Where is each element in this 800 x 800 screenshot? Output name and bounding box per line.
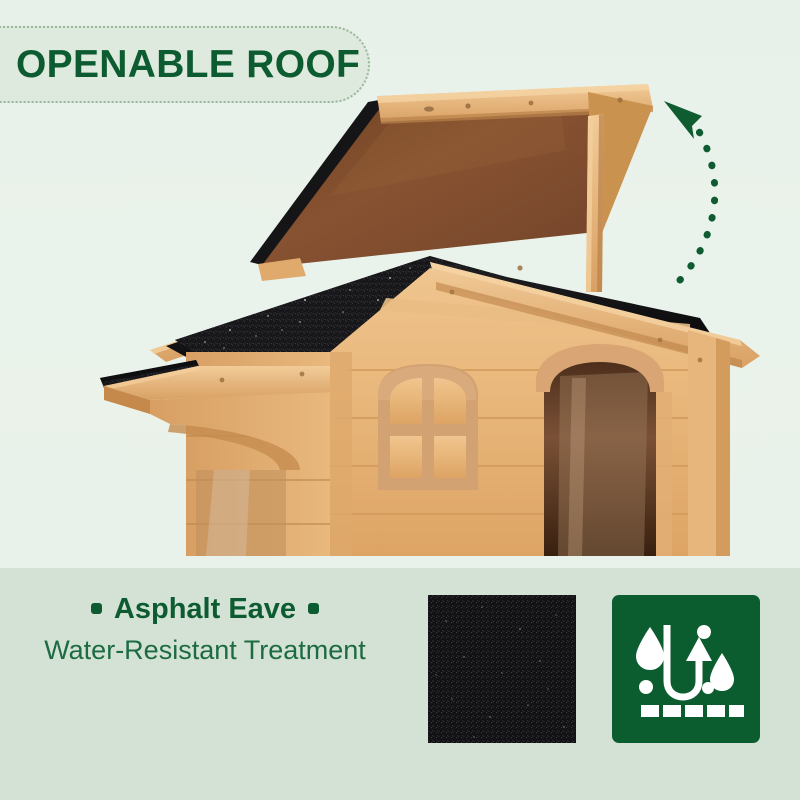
corner-post-right <box>688 330 716 556</box>
water-resistant-icon <box>612 595 760 743</box>
info-subheading: Water-Resistant Treatment <box>0 634 410 666</box>
feature-panel: OPENABLE ROOF Asphalt Eave Water-Resista… <box>0 0 800 800</box>
arrow-head-up <box>686 637 712 661</box>
water-resistant-glyph <box>612 595 760 743</box>
droplet-dot-left <box>639 680 653 694</box>
asphalt-texture-swatch <box>428 595 576 743</box>
bullet-dot-left <box>91 603 102 614</box>
feature-banner: OPENABLE ROOF <box>0 26 370 103</box>
info-text-block: Asphalt Eave Water-Resistant Treatment <box>0 592 410 666</box>
bullet-dot-right <box>308 603 319 614</box>
info-heading: Asphalt Eave <box>0 592 410 627</box>
dashed-surface-line <box>641 705 744 717</box>
swatch-texture <box>428 595 576 743</box>
roof-support-post <box>586 114 604 292</box>
droplet-right <box>710 653 734 691</box>
banner-title: OPENABLE ROOF <box>0 45 360 84</box>
droplet-dot-right <box>702 682 714 694</box>
droplet-large-left <box>636 627 664 670</box>
arched-door-opening <box>536 344 672 556</box>
droplet-dot-top <box>697 625 711 639</box>
open-direction-arrow <box>664 101 715 280</box>
product-photo-area: OPENABLE ROOF <box>0 0 800 568</box>
info-heading-label: Asphalt Eave <box>114 593 296 625</box>
decorative-arched-window <box>378 364 478 490</box>
